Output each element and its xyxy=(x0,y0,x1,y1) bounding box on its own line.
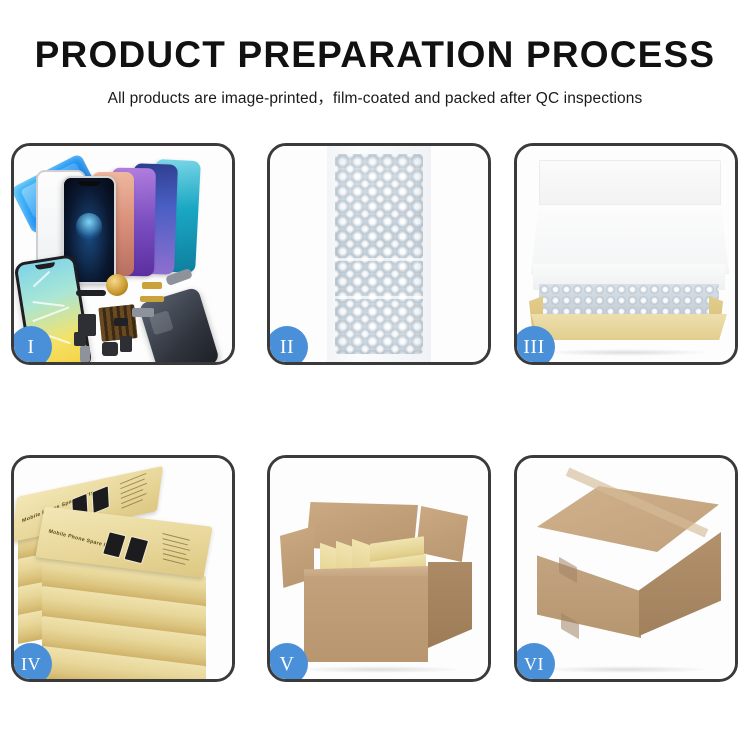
flex-cable-part-2 xyxy=(140,296,164,302)
drop-shadow xyxy=(296,666,462,673)
process-step-card-6: VI xyxy=(514,455,738,682)
step-badge-6: VI xyxy=(517,643,555,679)
process-step-grid: I II III xyxy=(0,0,750,750)
wrap-seam-2 xyxy=(335,296,423,299)
carton-side-panel xyxy=(428,562,472,648)
step-badge-5: V xyxy=(270,643,308,679)
wrap-seam-1 xyxy=(335,258,423,261)
process-step-card-2: II xyxy=(267,143,491,365)
step-3-image: III xyxy=(517,146,735,362)
kraft-box-front-wall xyxy=(531,314,727,340)
step-6-image: VI xyxy=(517,458,735,679)
box-phone-graphic-f1 xyxy=(102,531,127,558)
vibration-motor-part xyxy=(106,274,128,296)
box-phone-graphic-b2 xyxy=(92,485,110,514)
bracket-part xyxy=(132,308,154,317)
wallpaper-graphic xyxy=(76,213,102,239)
step-4-image: Mobile Phone Spare Parts Mobile Phone Sp… xyxy=(14,458,232,679)
drop-shadow xyxy=(543,666,709,673)
ic-chip-part xyxy=(114,318,128,326)
step-5-image: V xyxy=(270,458,488,679)
box-stack: Mobile Phone Spare Parts Mobile Phone Sp… xyxy=(14,458,232,679)
step-badge-2: II xyxy=(270,326,308,362)
bubble-wrap-bubbles xyxy=(335,154,423,354)
earpiece-part xyxy=(76,290,106,296)
speaker-part xyxy=(102,342,118,356)
flex-cable-part-1 xyxy=(142,282,162,289)
process-step-card-5: V xyxy=(267,455,491,682)
sim-tray-part xyxy=(80,346,90,362)
process-step-card-1: I xyxy=(11,143,235,365)
box-phone-graphic-f2 xyxy=(123,536,149,564)
camera-module-part xyxy=(120,336,132,352)
drop-shadow xyxy=(543,349,709,356)
connector-part-2 xyxy=(74,332,86,346)
bubble-wrapped-contents xyxy=(539,284,719,318)
carton-front-panel xyxy=(304,576,428,662)
infographic-page: PRODUCT PREPARATION PROCESS All products… xyxy=(0,0,750,750)
step-1-image: I xyxy=(14,146,232,362)
process-step-card-3: III xyxy=(514,143,738,365)
sealed-carton-front xyxy=(537,532,641,638)
step-2-image: II xyxy=(270,146,488,362)
process-step-card-4: Mobile Phone Spare Parts Mobile Phone Sp… xyxy=(11,455,235,682)
